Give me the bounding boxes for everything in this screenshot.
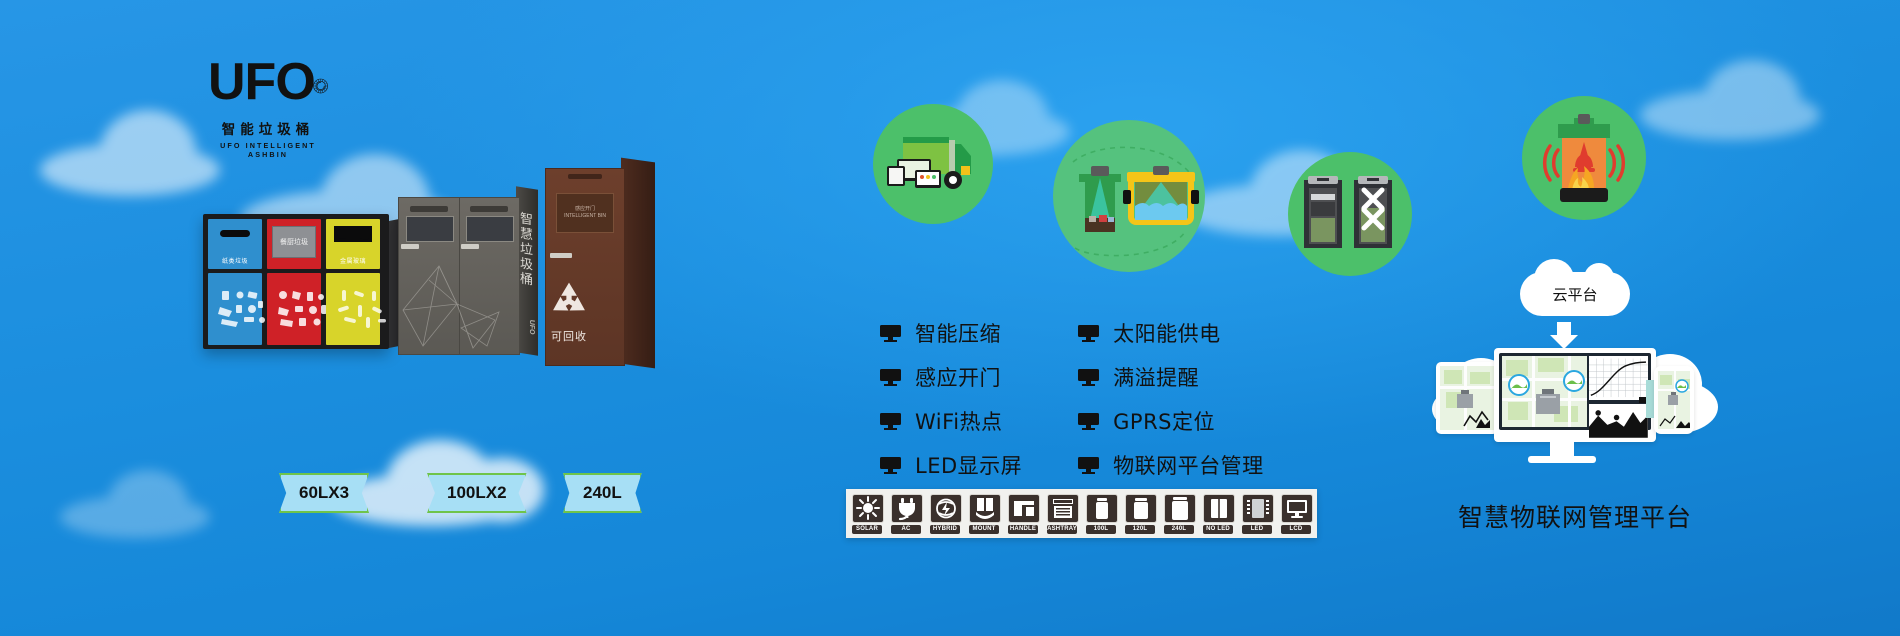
compartment-label: 金属玻璃 — [326, 256, 380, 265]
bin-compartment-yellow: 金属玻璃 — [326, 219, 380, 345]
desktop-monitor-device — [1494, 348, 1656, 442]
handle-strip — [401, 244, 419, 249]
bin-side-panel — [621, 158, 655, 369]
monitor-icon — [1078, 325, 1099, 342]
bin-240l-icon — [1164, 494, 1196, 523]
monitor-icon — [1078, 369, 1099, 386]
option-mount[interactable]: MOUNT — [969, 494, 999, 534]
background-cloud — [60, 470, 260, 540]
monitor-icon — [1078, 457, 1099, 474]
feature-column-1: 智能压缩 感应开门 WiFi热点 LED显示屏 — [880, 318, 1022, 480]
product-brown-single-bin: 感应开门 INTELLIGENT BIN 可回收 — [545, 168, 655, 371]
lid-cap — [410, 206, 448, 212]
capacity-label-240l: 240L — [563, 473, 642, 513]
monitor-map-panel — [1502, 356, 1587, 427]
logo-chinese-name: 智能垃圾桶 — [208, 118, 328, 138]
feature-label: 太阳能供电 — [1113, 318, 1221, 348]
decorative-polygon-pattern — [399, 250, 519, 352]
feature-item: 满溢提醒 — [1078, 362, 1264, 392]
ashtray-icon — [1047, 494, 1079, 523]
slot-oval-icon — [220, 230, 250, 237]
option-100l[interactable]: 100L — [1086, 494, 1116, 534]
monitor-icon — [880, 325, 901, 342]
logo-wordmark-row: UFO — [208, 58, 328, 113]
option-ashtray[interactable]: ASHTRAY — [1047, 494, 1077, 534]
logo-english-name: UFO INTELLIGENT ASHBIN — [208, 141, 328, 159]
feature-column-2: 太阳能供电 满溢提醒 GPRS定位 物联网平台管理 — [1078, 318, 1264, 480]
feature-item: WiFi热点 — [880, 406, 1022, 436]
cloud-platform-label: 云平台 — [1520, 272, 1630, 316]
compartment-art-blue — [208, 273, 262, 345]
recycle-icon — [548, 281, 590, 321]
feature-item: 物联网平台管理 — [1078, 450, 1264, 480]
iot-platform-graphic: 云平台 — [1432, 280, 1718, 490]
feature-circle-collection-fleet — [873, 104, 993, 224]
bin-body: 纸类垃圾 — [203, 214, 389, 349]
option-label: HANDLE — [1008, 525, 1038, 534]
option-label: LED — [1242, 525, 1272, 534]
feature-item: 感应开门 — [880, 362, 1022, 392]
capacity-label-60lx3: 60LX3 — [279, 473, 369, 513]
option-icon-strip: SOLAR AC HYBRID — [846, 489, 1317, 538]
background-cloud — [1640, 60, 1880, 144]
bin-120l-icon — [1125, 494, 1157, 523]
option-label: MOUNT — [969, 525, 999, 534]
option-label: SOLAR — [852, 525, 882, 534]
feature-item: LED显示屏 — [880, 450, 1022, 480]
recycle-label: 可回收 — [546, 328, 592, 344]
compartment-top-red: 餐厨垃圾 — [267, 219, 321, 269]
compartment-top-yellow: 金属玻璃 — [326, 219, 380, 269]
display-window-text: 感应开门 INTELLIGENT BIN — [557, 194, 613, 232]
mini-chart-icon — [1659, 414, 1690, 428]
platform-caption: 智慧物联网管理平台 — [1380, 498, 1770, 534]
waste-pictogram-icon — [332, 287, 392, 331]
area-chart — [1589, 404, 1648, 440]
monitor-icon — [1078, 413, 1099, 430]
map-pin-icon — [1508, 374, 1530, 396]
growth-line-chart — [1589, 356, 1648, 400]
lcd-screen-icon — [1281, 494, 1313, 523]
lid-cap — [568, 174, 602, 179]
monitor-line-chart-panel — [1589, 356, 1648, 400]
bin-brand-mark: UFO — [528, 319, 535, 335]
compartment-art-yellow — [326, 273, 380, 345]
option-lcd[interactable]: LCD — [1281, 494, 1311, 534]
feature-label: 智能压缩 — [915, 318, 1001, 348]
option-label: NO LED — [1203, 525, 1233, 534]
option-label: LCD — [1281, 525, 1311, 534]
feature-label: 感应开门 — [915, 362, 1001, 392]
feature-label: GPRS定位 — [1113, 406, 1215, 436]
lid-cap — [470, 206, 508, 212]
ultrasonic-sensor-icon — [1053, 120, 1205, 272]
hybrid-power-icon — [930, 494, 962, 523]
display-window — [406, 216, 454, 242]
cloud-platform-badge: 云平台 — [1520, 272, 1630, 316]
option-solar[interactable]: SOLAR — [852, 494, 882, 534]
option-handle[interactable]: HANDLE — [1008, 494, 1038, 534]
feature-circle-fill-level-sensing — [1053, 120, 1205, 272]
power-plug-icon — [891, 494, 923, 523]
brand-logo: UFO — [208, 58, 328, 159]
compactor-icon — [1288, 152, 1412, 276]
compartment-label: 餐厨垃圾 — [273, 227, 315, 257]
compartment-art-red — [267, 273, 321, 345]
compartment-top-blue: 纸类垃圾 — [208, 219, 262, 269]
compartment-display-screen: 餐厨垃圾 — [272, 226, 316, 258]
tablet-screen-map — [1440, 366, 1494, 430]
no-led-panel-icon — [1203, 494, 1235, 523]
option-label: 100L — [1086, 525, 1116, 534]
monitor-stand-base — [1528, 456, 1596, 463]
feature-label: LED显示屏 — [915, 450, 1022, 480]
garbage-truck-icon — [873, 104, 993, 224]
recycle-badge: 可回收 — [546, 281, 592, 344]
logo-wordmark: UFO — [208, 58, 315, 107]
mini-chart-icon — [1462, 408, 1490, 428]
sun-icon — [852, 494, 884, 523]
feature-item: GPRS定位 — [1078, 406, 1264, 436]
banner-stage: UFO — [0, 0, 1900, 636]
feature-label: 物联网平台管理 — [1113, 450, 1264, 480]
monitor-icon — [880, 369, 901, 386]
smartphone-device — [1654, 366, 1694, 434]
option-label: ASHTRAY — [1047, 525, 1077, 534]
tablet-device — [1436, 362, 1498, 434]
feature-label: 满溢提醒 — [1113, 362, 1199, 392]
map-pin-icon — [1675, 379, 1689, 393]
option-hybrid[interactable]: HYBRID — [930, 494, 960, 534]
bin-100l-icon — [1086, 494, 1118, 523]
phone-screen-map — [1658, 371, 1690, 429]
waste-pictogram-icon — [273, 287, 333, 331]
screen-line-1: 感应开门 — [575, 206, 595, 214]
option-no-led[interactable]: NO LED — [1203, 494, 1233, 534]
option-240l[interactable]: 240L — [1164, 494, 1194, 534]
bin-marker-icon — [1528, 382, 1568, 418]
display-window: 感应开门 INTELLIGENT BIN — [556, 193, 614, 233]
handle-strip — [550, 253, 572, 258]
bin-front-face — [398, 197, 520, 355]
monitor-icon — [880, 413, 901, 430]
capacity-label-100lx2: 100LX2 — [427, 473, 527, 513]
waste-pictogram-icon — [214, 287, 274, 331]
product-three-compartment-bin: 纸类垃圾 — [203, 214, 389, 349]
slot-clover-icon — [334, 226, 372, 242]
product-grey-double-bin: 智慧垃圾桶 UFO — [398, 197, 536, 360]
fire-alarm-icon — [1522, 96, 1646, 220]
led-panel-icon — [1242, 494, 1274, 523]
screen-line-2: INTELLIGENT BIN — [564, 213, 606, 221]
option-label: AC — [891, 525, 921, 534]
handle-icon — [1008, 494, 1040, 523]
map-pin-icon — [1563, 370, 1585, 392]
ring-logo-icon — [313, 59, 328, 113]
feature-list: 智能压缩 感应开门 WiFi热点 LED显示屏 太阳能供电 满溢提醒 — [880, 318, 1264, 480]
feature-circle-compaction — [1288, 152, 1412, 276]
bin-compartment-blue: 纸类垃圾 — [208, 219, 262, 345]
feature-label: WiFi热点 — [915, 406, 1003, 436]
option-ac[interactable]: AC — [891, 494, 921, 534]
option-label: HYBRID — [930, 525, 960, 534]
monitor-bezel — [1499, 353, 1651, 430]
handle-strip — [461, 244, 479, 249]
bin-front-face: 感应开门 INTELLIGENT BIN 可回收 — [545, 168, 625, 366]
feature-circle-fire-alarm — [1522, 96, 1646, 220]
wall-mount-icon — [969, 494, 1001, 523]
bin-marker-icon — [1452, 386, 1478, 410]
option-led[interactable]: LED — [1242, 494, 1272, 534]
display-window — [466, 216, 514, 242]
monitor-area-chart-panel — [1589, 404, 1648, 440]
feature-item: 太阳能供电 — [1078, 318, 1264, 348]
bin-compartment-red: 餐厨垃圾 — [267, 219, 321, 345]
option-120l[interactable]: 120L — [1125, 494, 1155, 534]
option-label: 240L — [1164, 525, 1194, 534]
compartment-label: 纸类垃圾 — [208, 256, 262, 265]
monitor-icon — [880, 457, 901, 474]
option-label: 120L — [1125, 525, 1155, 534]
feature-item: 智能压缩 — [880, 318, 1022, 348]
